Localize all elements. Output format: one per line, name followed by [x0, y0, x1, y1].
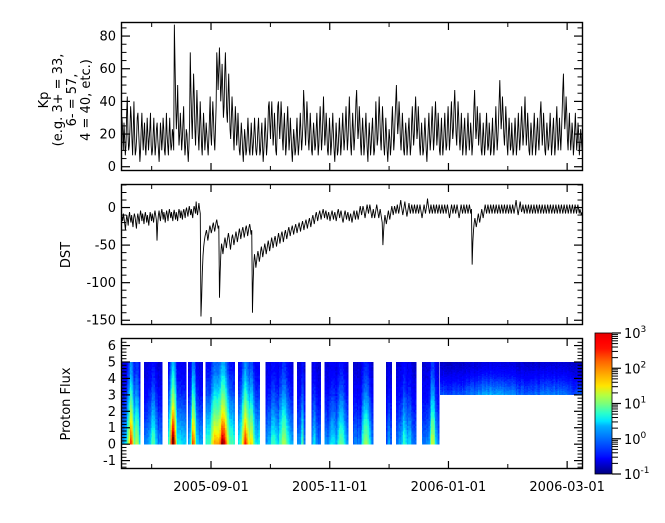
kp-axis-label: Kp (e.g. 3+ = 33, 6- = 57, 4 = 40, etc.) [37, 54, 94, 147]
y-ticklabel: 0 [108, 201, 116, 216]
dst-trace [122, 199, 582, 317]
spectrogram-cell [202, 442, 204, 444]
y-ticklabel: 0 [108, 160, 116, 175]
kp-panel: 020406080 Kp (e.g. 3+ = 33, 6- = 57, 4 =… [37, 23, 583, 176]
y-ticklabel: 20 [99, 128, 116, 143]
kp-label-line-4: 4 = 40, etc.) [79, 59, 94, 141]
kp-x-ticks [152, 23, 567, 170]
space-weather-figure: 020406080 Kp (e.g. 3+ = 33, 6- = 57, 4 =… [0, 0, 665, 523]
y-ticklabel: 40 [99, 95, 116, 110]
kp-label-line-1: Kp [37, 92, 52, 109]
spectrogram-cell [233, 442, 235, 444]
kp-label-line-3: 6- = 57, [65, 74, 80, 127]
spectrogram-cell [139, 442, 141, 444]
kp-trace [122, 25, 582, 162]
y-ticklabel: -50 [95, 239, 116, 254]
kp-label-line-2: (e.g. 3+ = 33, [51, 54, 66, 147]
kp-trace-clip [122, 25, 582, 162]
y-ticklabel: 60 [99, 62, 116, 77]
spectrogram-cell [259, 442, 261, 444]
y-ticklabel: 80 [99, 30, 116, 45]
proton-flux-panel: -10123456 2005-09-012005-11-012006-01-01… [59, 339, 605, 496]
proton-flux-spectrogram [122, 362, 582, 445]
dst-plot-frame [122, 185, 583, 325]
spectrogram-cell [161, 442, 163, 444]
figure-container: 020406080 Kp (e.g. 3+ = 33, 6- = 57, 4 =… [0, 0, 665, 523]
dst-y-ticklabels: 0-50-100-150 [86, 201, 116, 329]
dst-panel: 0-50-100-150 DST [59, 185, 583, 329]
dst-axis-label: DST [59, 242, 74, 268]
kp-y-ticklabels: 020406080 [99, 30, 116, 176]
spectrogram-cell [185, 442, 187, 444]
y-ticklabel: -100 [86, 276, 116, 291]
y-ticklabel: -150 [86, 314, 116, 329]
